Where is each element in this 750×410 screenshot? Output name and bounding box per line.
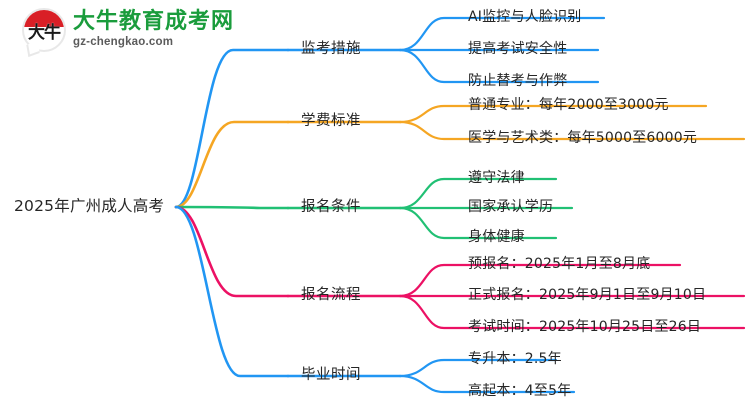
branch-node-4[interactable]: 报名流程 — [301, 288, 361, 303]
leaf-node-5-2[interactable]: 高起本：4至5年 — [468, 384, 571, 398]
leaf-node-2-2[interactable]: 医学与艺术类：每年5000至6000元 — [468, 131, 697, 145]
logo-site-name: 大牛教育成考网 — [73, 11, 234, 33]
branch-node-5[interactable]: 毕业时间 — [301, 368, 361, 383]
branch-node-3[interactable]: 报名条件 — [301, 200, 361, 215]
leaf-node-4-2[interactable]: 正式报名：2025年9月1日至9月10日 — [468, 288, 706, 302]
leaf-node-1-1[interactable]: AI监控与人脸识别 — [468, 10, 582, 24]
leaf-node-1-2[interactable]: 提高考试安全性 — [468, 42, 567, 56]
logo-text-block: 大牛教育成考网 gz-chengkao.com — [73, 11, 234, 49]
leaf-node-3-2[interactable]: 国家承认学历 — [468, 200, 553, 214]
branch-connector-2 — [176, 106, 744, 207]
logo-domain: gz-chengkao.com — [73, 37, 234, 49]
leaf-node-4-1[interactable]: 预报名：2025年1月至8月底 — [468, 257, 650, 271]
leaf-node-3-1[interactable]: 遵守法律 — [468, 171, 525, 185]
leaf-node-3-3[interactable]: 身体健康 — [468, 230, 525, 244]
branch-connector-4 — [176, 207, 744, 328]
site-logo[interactable]: 大牛 大牛教育成考网 gz-chengkao.com — [22, 8, 234, 52]
branch-node-1[interactable]: 监考措施 — [301, 42, 361, 57]
leaf-node-2-1[interactable]: 普通专业：每年2000至3000元 — [468, 98, 669, 112]
logo-badge-icon: 大牛 — [22, 8, 66, 52]
logo-badge-text: 大牛 — [22, 8, 66, 52]
branch-node-2[interactable]: 学费标准 — [301, 114, 361, 129]
leaf-node-1-3[interactable]: 防止替考与作弊 — [468, 74, 567, 88]
mindmap-root-node[interactable]: 2025年广州成人高考 — [14, 199, 164, 215]
mindmap-canvas: 大牛 大牛教育成考网 gz-chengkao.com 2025年广州成人高考 监… — [0, 0, 750, 410]
leaf-node-5-1[interactable]: 专升本：2.5年 — [468, 352, 562, 366]
leaf-node-4-3[interactable]: 考试时间：2025年10月25日至26日 — [468, 320, 701, 334]
